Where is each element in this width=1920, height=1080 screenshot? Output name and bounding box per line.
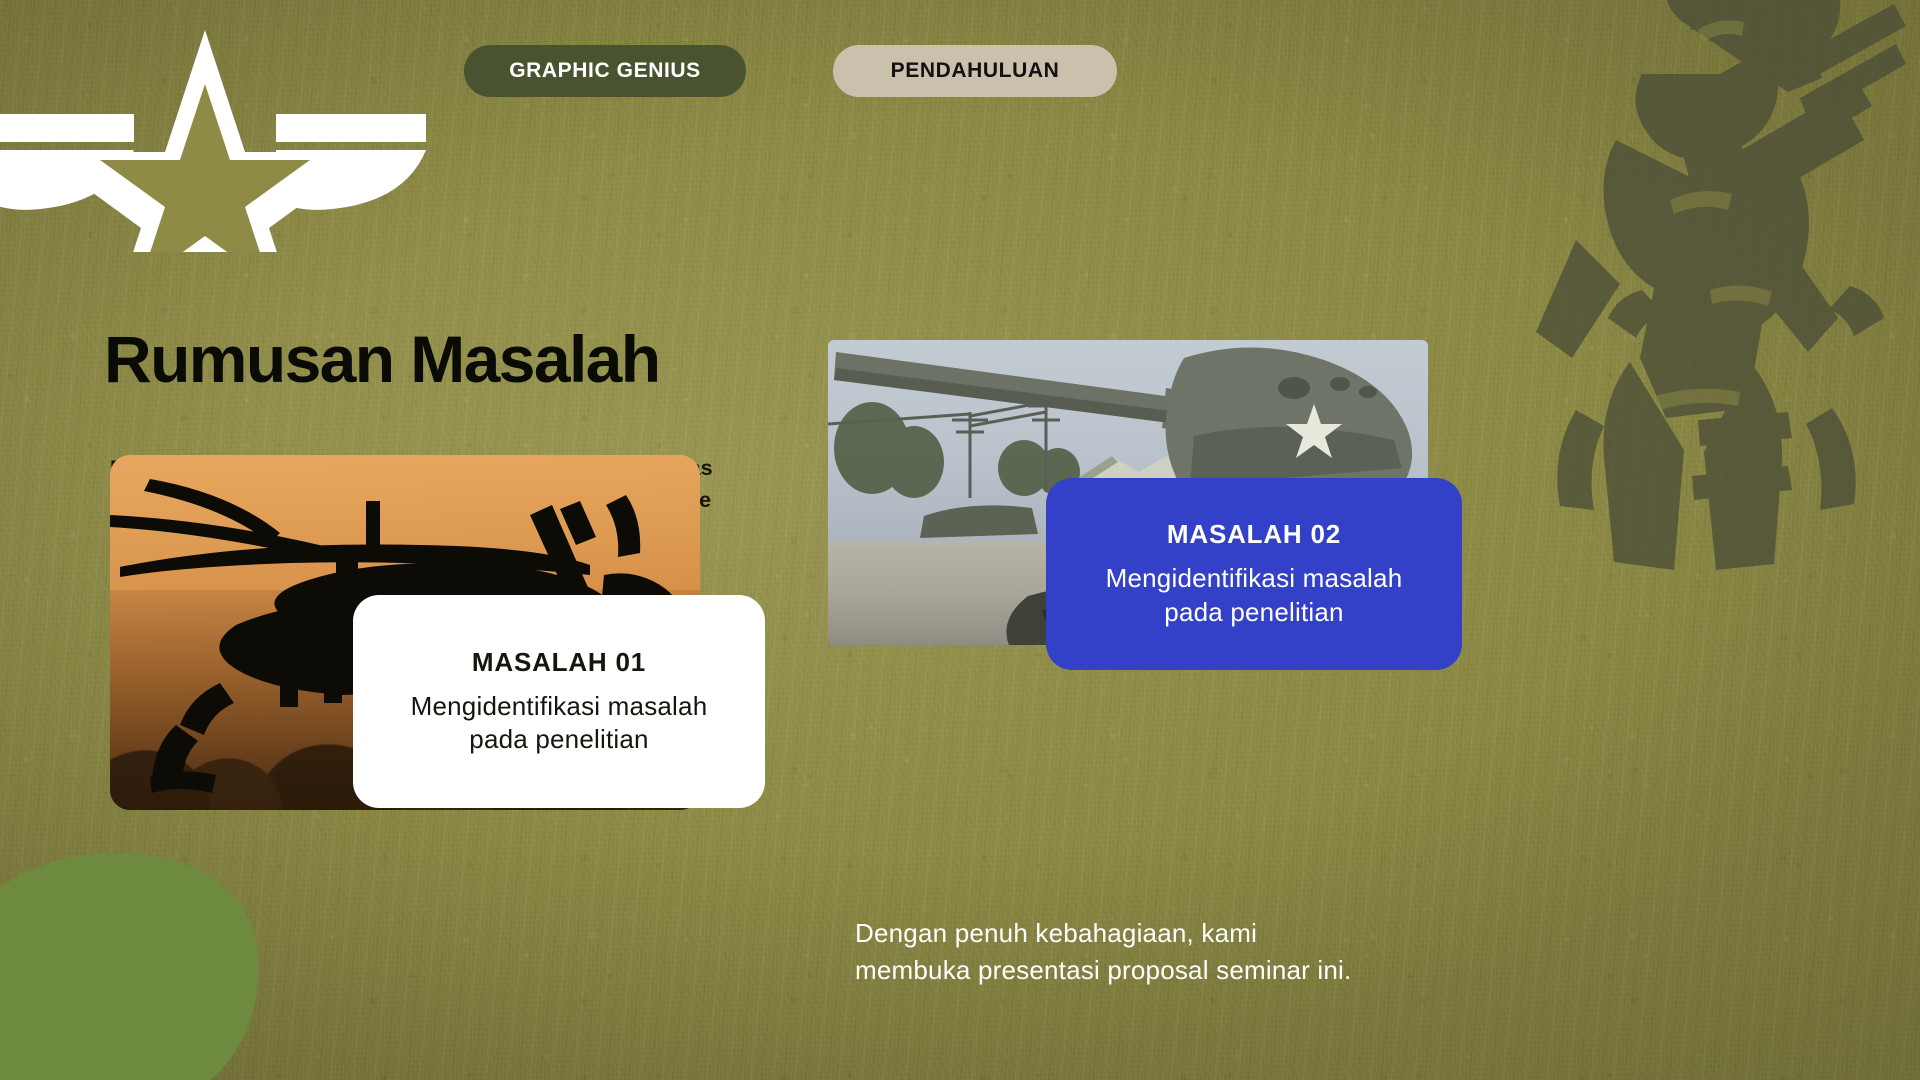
soldier-silhouette-icon	[1380, 0, 1920, 570]
badge-brand[interactable]: GRAPHIC GENIUS	[464, 45, 746, 97]
page-title: Rumusan Masalah	[104, 326, 660, 392]
badge-section[interactable]: PENDAHULUAN	[833, 45, 1117, 97]
masalah-02-title: MASALAH 02	[1167, 519, 1341, 550]
badge-brand-label: GRAPHIC GENIUS	[509, 59, 701, 83]
closing-caption-line2: membuka presentasi proposal seminar ini.	[855, 952, 1475, 989]
masalah-02-body-line1: Mengidentifikasi masalah	[1106, 562, 1403, 595]
presentation-slide: GRAPHIC GENIUS PENDAHULUAN Rumusan Masal…	[0, 0, 1920, 1080]
masalah-01-body-line2: pada penelitian	[411, 723, 708, 756]
masalah-01-body: Mengidentifikasi masalah pada penelitian	[411, 690, 708, 757]
masalah-02-body: Mengidentifikasi masalah pada penelitian	[1106, 562, 1403, 629]
masalah-02-body-line2: pada penelitian	[1106, 596, 1403, 629]
closing-caption: Dengan penuh kebahagiaan, kami membuka p…	[855, 915, 1475, 989]
masalah-01-card[interactable]: MASALAH 01 Mengidentifikasi masalah pada…	[353, 595, 765, 808]
star-wings-emblem-icon	[0, 22, 430, 252]
badge-section-label: PENDAHULUAN	[891, 59, 1060, 83]
masalah-02-card[interactable]: MASALAH 02 Mengidentifikasi masalah pada…	[1046, 478, 1462, 670]
masalah-01-title: MASALAH 01	[472, 647, 646, 678]
closing-caption-line1: Dengan penuh kebahagiaan, kami	[855, 915, 1475, 952]
masalah-01-body-line1: Mengidentifikasi masalah	[411, 690, 708, 723]
